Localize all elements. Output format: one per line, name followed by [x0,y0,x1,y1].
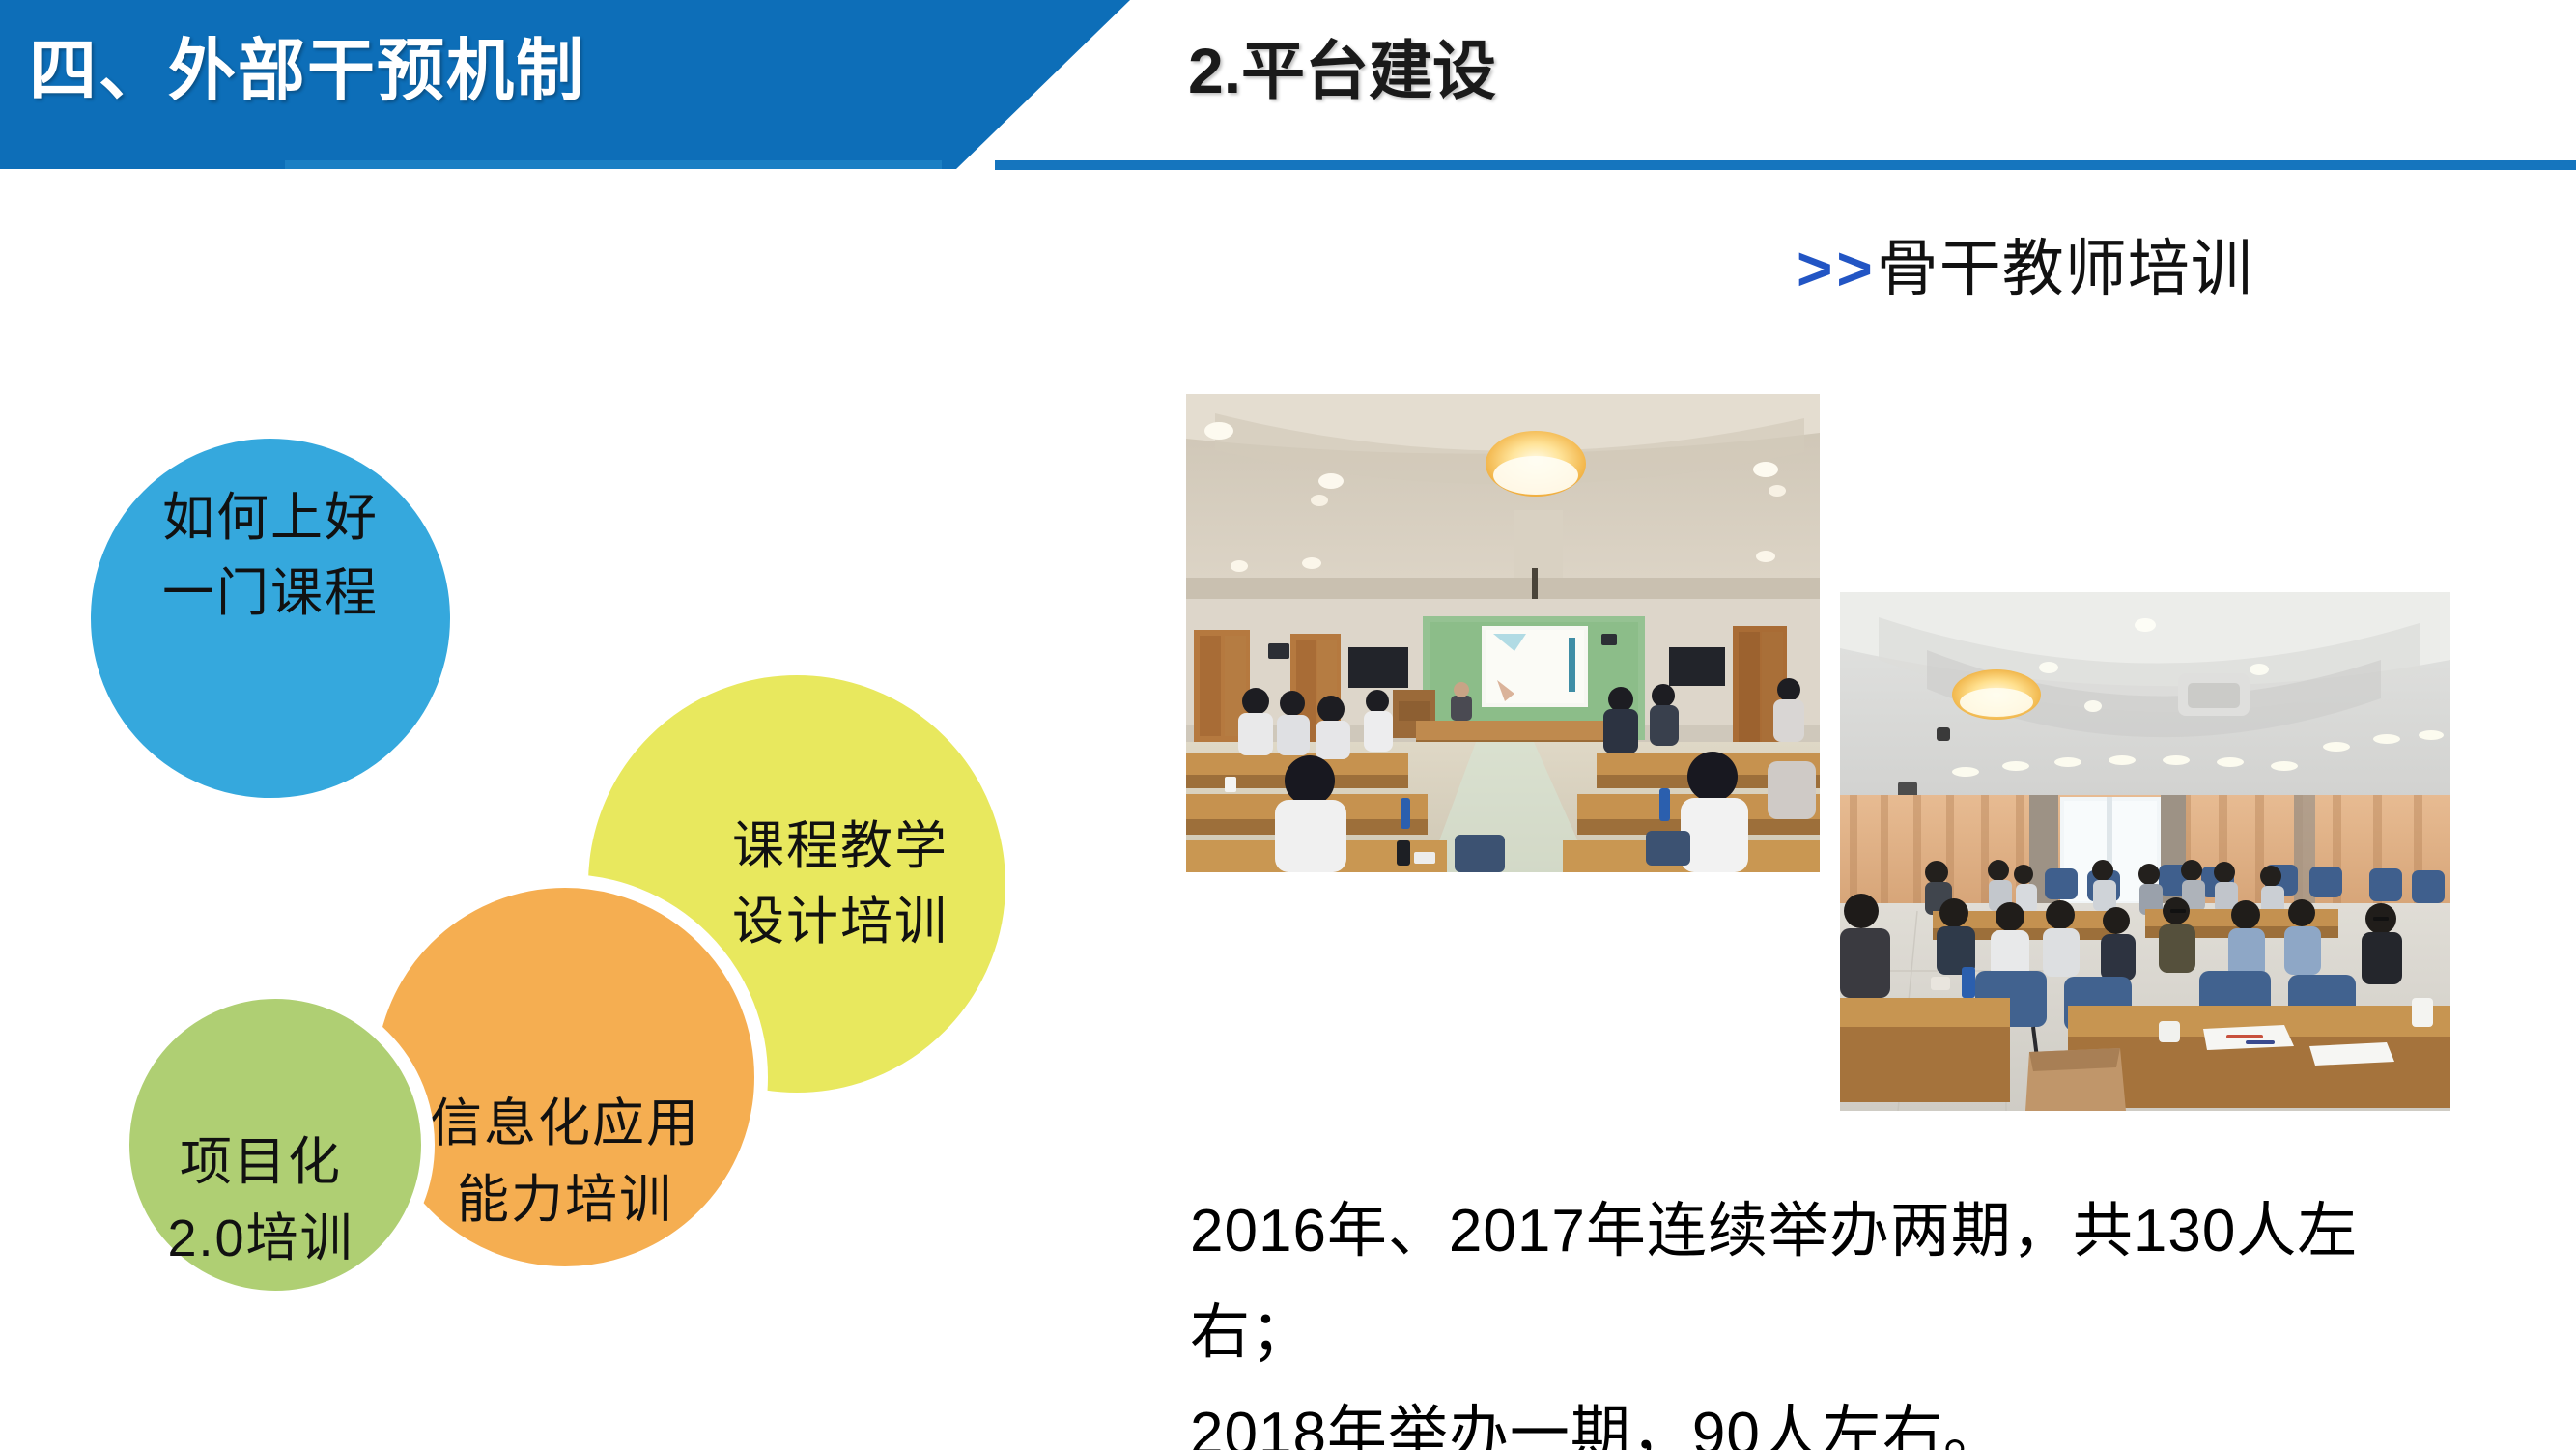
venn-label-line1: 如何上好 [162,480,379,555]
body-text-line-1: 2016年、2017年连续举办两期，共130人左 [1190,1180,2542,1282]
photo-lecture-hall-front [1186,394,1820,872]
subtitle-group: >>骨干教师培训 [1797,230,2253,307]
header-underline-right [995,160,2576,170]
venn-circle-informatization: 信息化应用 能力培训 [362,874,768,1280]
body-text: 2016年、2017年连续举办两期，共130人左 右； 2018年举办一期，90… [1190,1180,2542,1450]
venn-label-line2: 设计培训 [732,884,948,959]
topic-title: 2.平台建设 [1188,17,2057,124]
photo-classroom-attendees [1840,592,2450,1111]
photo-classroom-attendees-image [1840,592,2450,1111]
venn-label-line2: 能力培训 [457,1162,673,1237]
venn-label-line1: 课程教学 [732,809,948,884]
header-underline-left [285,160,942,169]
subtitle-text: 骨干教师培训 [1877,234,2253,303]
slide-root: 四、外部干预机制 2.平台建设 >>骨干教师培训 课程教学 设计培训 信息化应用… [0,0,2576,1450]
chevron-right-icon: >> [1797,234,1877,303]
venn-label-line2: 2.0培训 [167,1201,354,1276]
body-text-line-2: 右； [1190,1282,2542,1383]
venn-circle-how-to-teach: 如何上好 一门课程 [77,425,464,811]
photo-lecture-hall-front-image [1186,394,1820,872]
venn-label-line1: 项目化 [180,1124,342,1200]
body-text-line-3: 2018年举办一期，90人左右。 [1190,1383,2542,1450]
venn-label-line2: 一门课程 [162,555,379,631]
venn-diagram: 课程教学 设计培训 信息化应用 能力培训 项目化 2.0培训 如何上好 一门课程 [77,425,1159,1372]
venn-label-line1: 信息化应用 [430,1086,700,1161]
venn-circle-project-2-0: 项目化 2.0培训 [116,985,435,1304]
section-title: 四、外部干预机制 [29,17,898,124]
